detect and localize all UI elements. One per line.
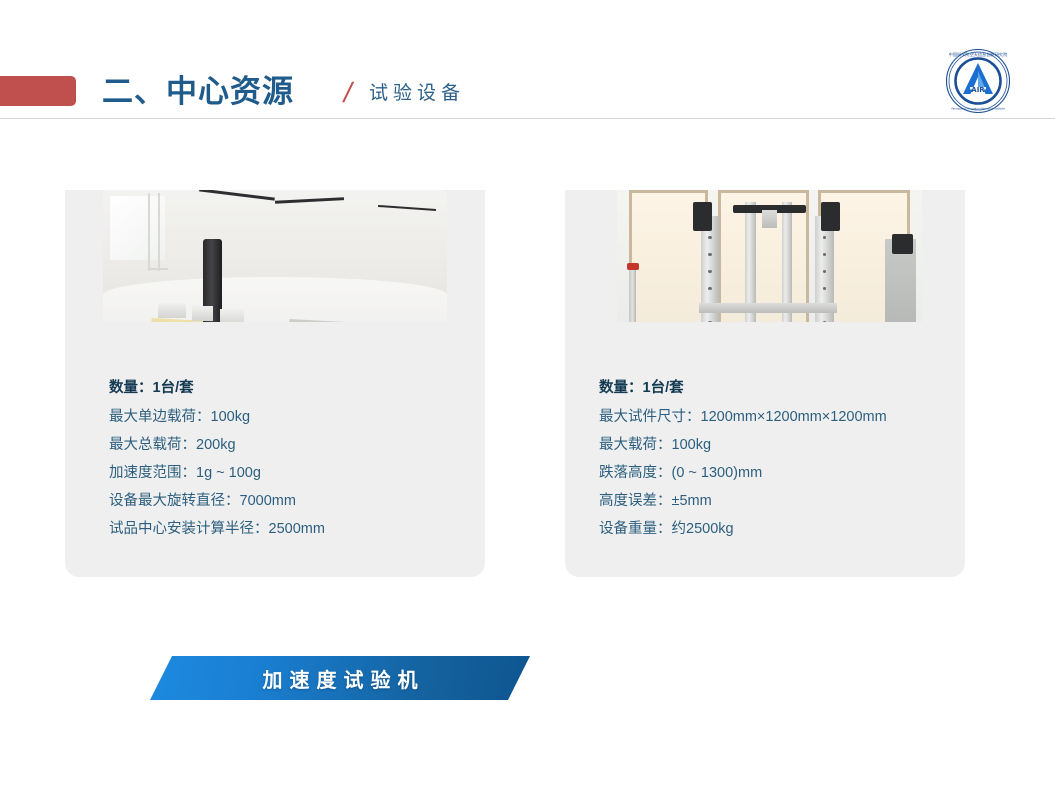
spec-item: 最大总载荷：200kg bbox=[109, 431, 485, 459]
spec-list: 数量：1台/套 最大试件尺寸：1200mm×1200mm×1200mm 最大载荷… bbox=[565, 374, 965, 543]
spec-item: 数量：1台/套 bbox=[599, 374, 965, 402]
spec-item: 加速度范围：1g ~ 100g bbox=[109, 459, 485, 487]
spec-item: 设备重量：约2500kg bbox=[599, 515, 965, 543]
spec-item: 最大载荷：100kg bbox=[599, 431, 965, 459]
spec-item: 最大单边载荷：100kg bbox=[109, 403, 485, 431]
equipment-title: 加速度试验机 bbox=[256, 664, 425, 693]
equipment-spec-panel-acceleration: 数量：1台/套 最大单边载荷：100kg 最大总载荷：200kg 加速度范围：1… bbox=[65, 322, 485, 577]
spec-item: 设备最大旋转直径：7000mm bbox=[109, 487, 485, 515]
equipment-title-banner: 加速度试验机 bbox=[150, 656, 530, 700]
spec-item: 高度误差：±5mm bbox=[599, 487, 965, 515]
spec-item: 试品中心安装计算半径：2500mm bbox=[109, 515, 485, 543]
slide: 二、中心资源 / 试验设备 AIR 中国科学院空天信息创新研究院 Aerospa… bbox=[0, 0, 1055, 786]
equipment-spec-panel-drop-bench: 数量：1台/套 最大试件尺寸：1200mm×1200mm×1200mm 最大载荷… bbox=[565, 322, 965, 577]
equipment-card-list: 加速度试验机 数量：1台/套 最大单边载荷：100kg 最大总载荷：200kg … bbox=[0, 0, 1055, 786]
spec-item: 跌落高度：(0 ~ 1300)mm bbox=[599, 459, 965, 487]
spec-item: 数量：1台/套 bbox=[109, 374, 485, 402]
spec-list: 数量：1台/套 最大单边载荷：100kg 最大总载荷：200kg 加速度范围：1… bbox=[65, 374, 485, 543]
spec-item: 最大试件尺寸：1200mm×1200mm×1200mm bbox=[599, 403, 965, 431]
